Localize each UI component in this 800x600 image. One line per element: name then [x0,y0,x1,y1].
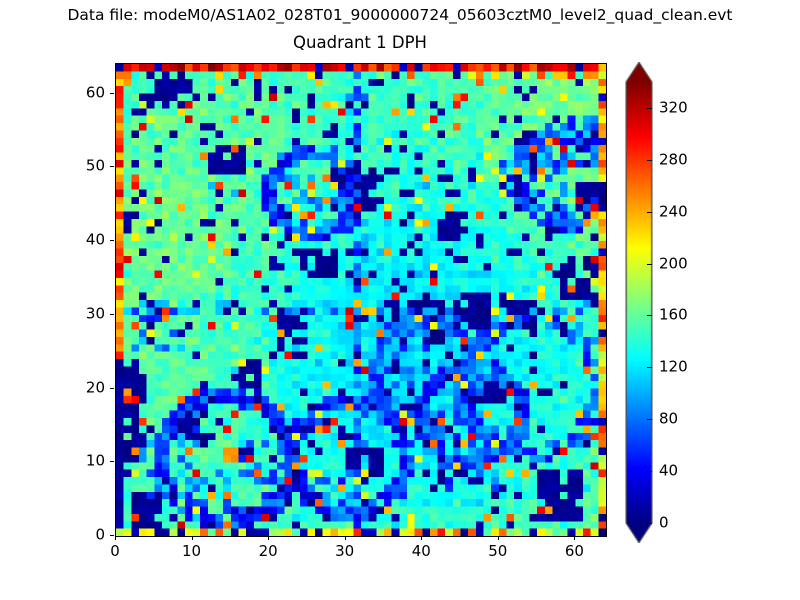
y-tick-label: 10 [63,453,105,470]
x-tick-label: 20 [259,543,278,560]
data-file-suptitle: Data file: modeM0/AS1A02_028T01_90000007… [0,6,800,24]
colorbar-tick-mark [647,419,652,420]
y-tick-mark [110,240,114,241]
x-tick-label: 60 [565,543,584,560]
colorbar-tick-label: 40 [659,463,678,480]
y-tick-label: 30 [63,305,105,322]
colorbar-tick-label: 240 [659,203,688,220]
x-tick-mark [421,536,422,540]
x-tick-label: 0 [110,543,120,560]
y-tick-label: 50 [63,158,105,175]
colorbar-tick-mark [647,108,652,109]
colorbar-tick-mark [647,160,652,161]
colorbar-tick-label: 160 [659,307,688,324]
plot-title: Quadrant 1 DPH [115,33,605,53]
colorbar-tick-label: 320 [659,99,688,116]
colorbar-tick-mark [647,212,652,213]
y-tick-mark [110,166,114,167]
x-tick-label: 10 [182,543,201,560]
x-tick-mark [115,536,116,540]
dph-heatmap-axes[interactable] [115,63,607,537]
colorbar-tick-mark [647,367,652,368]
y-tick-mark [110,461,114,462]
colorbar-tick-label: 120 [659,359,688,376]
x-tick-mark [345,536,346,540]
y-tick-mark [110,388,114,389]
dph-heatmap-image[interactable] [116,64,606,536]
y-tick-mark [110,535,114,536]
colorbar-tick-label: 80 [659,411,678,428]
colorbar-tick-mark [647,264,652,265]
colorbar-tick-label: 0 [659,515,669,532]
y-tick-label: 60 [63,84,105,101]
figure-canvas: Data file: modeM0/AS1A02_028T01_90000007… [0,0,800,600]
y-tick-mark [110,314,114,315]
x-tick-label: 30 [335,543,354,560]
x-tick-label: 40 [412,543,431,560]
x-tick-mark [498,536,499,540]
y-tick-mark [110,93,114,94]
y-tick-label: 40 [63,232,105,249]
colorbar-tick-mark [647,315,652,316]
colorbar-tick-label: 200 [659,255,688,272]
y-tick-label: 20 [63,379,105,396]
colorbar-tick-mark [647,471,652,472]
y-tick-label: 0 [63,527,105,544]
x-tick-mark [268,536,269,540]
x-tick-mark [192,536,193,540]
colorbar-tick-mark [647,523,652,524]
x-tick-mark [574,536,575,540]
x-tick-label: 50 [488,543,507,560]
colorbar-tick-label: 280 [659,151,688,168]
